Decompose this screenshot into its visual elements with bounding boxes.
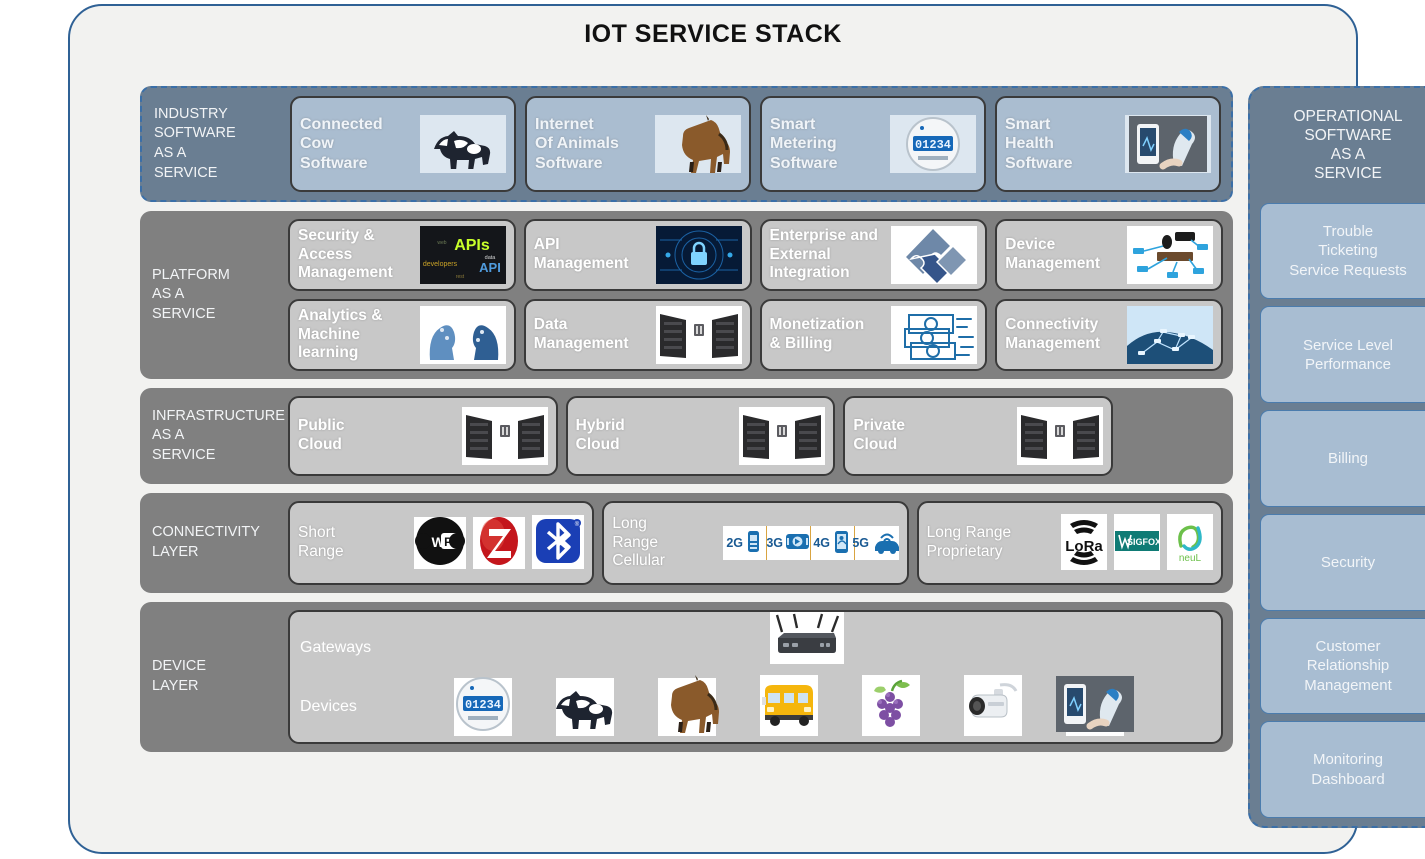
card-enterprise-and[interactable]: Enterprise andExternal Integration xyxy=(760,219,988,291)
operational-item-label: CustomerRelationshipManagement xyxy=(1304,637,1392,695)
card-api[interactable]: APIManagement xyxy=(524,219,752,291)
card-label: PrivateCloud xyxy=(853,417,905,455)
server-rack-icon xyxy=(1017,407,1103,465)
card-internet[interactable]: InternetOf AnimalsSoftware xyxy=(525,96,751,192)
cloud-network-icon xyxy=(1127,306,1213,364)
card-art xyxy=(420,306,506,364)
media-phone-icon xyxy=(785,530,810,556)
card-monetization[interactable]: Monetization& Billing xyxy=(760,299,988,371)
layer-label-device: DEVICELAYER xyxy=(140,657,288,696)
conn-group-long-range[interactable]: Long RangeProprietaryLoRaSIGFOXneuL xyxy=(917,501,1223,585)
server-rack-icon xyxy=(462,407,548,465)
conn-group-short[interactable]: ShortRangeWiFi® xyxy=(288,501,594,585)
card-smart[interactable]: SmartHealthSoftware xyxy=(995,96,1221,192)
card-label: APIManagement xyxy=(534,236,629,274)
ai-heads-icon xyxy=(420,306,506,364)
horse-icon xyxy=(659,115,737,173)
layer-connectivity: CONNECTIVITYLAYERShortRangeWiFi®LongRang… xyxy=(140,493,1233,593)
svg-text:APIs: APIs xyxy=(454,237,490,254)
card-connectivity[interactable]: ConnectivityManagement xyxy=(995,299,1223,371)
layer-industry: INDUSTRYSOFTWAREAS ASERVICEConnectedCowS… xyxy=(140,86,1233,202)
card-label: Analytics &Machine learning xyxy=(298,307,420,364)
device-network-icon xyxy=(1127,226,1213,284)
card-security-access[interactable]: Security & AccessManagementAPIsAPIdevelo… xyxy=(288,219,516,291)
card-art xyxy=(1125,115,1211,173)
card-hybrid[interactable]: HybridCloud xyxy=(566,396,836,476)
page-title: IOT SERVICE STACK xyxy=(70,20,1356,49)
card-public[interactable]: PublicCloud xyxy=(288,396,558,476)
card-art xyxy=(891,306,977,364)
layer-device: DEVICELAYERGatewaysDevices01234 xyxy=(140,602,1233,752)
svg-text:LoRa: LoRa xyxy=(1065,538,1103,555)
grapes-icon xyxy=(862,675,920,738)
svg-text:01234: 01234 xyxy=(465,698,501,712)
layer-infrastructure: INFRASTRUCTUREAS ASERVICEPublicCloudHybr… xyxy=(140,388,1233,484)
wifi-logo: WiFi xyxy=(414,515,466,572)
card-label: HybridCloud xyxy=(576,417,625,455)
card-label: ConnectivityManagement xyxy=(1005,316,1100,354)
cow-icon xyxy=(546,679,624,734)
svg-text:®: ® xyxy=(575,521,580,528)
logo-row: WiFi® xyxy=(414,517,584,569)
operational-item-label: Billing xyxy=(1328,449,1368,468)
card-row: ConnectedCowSoftwareInternetOf AnimalsSo… xyxy=(290,96,1221,192)
lora-logo: LoRa xyxy=(1061,514,1107,573)
layer-label-industry: INDUSTRYSOFTWAREAS ASERVICE xyxy=(142,105,290,183)
card-private[interactable]: PrivateCloud xyxy=(843,396,1113,476)
card-label: DeviceManagement xyxy=(1005,236,1100,274)
conn-group-long[interactable]: LongRangeCellular2G3G4G5G xyxy=(602,501,908,585)
neul-logo: neuL xyxy=(1167,514,1213,573)
operational-item-label: Service LevelPerformance xyxy=(1303,336,1393,374)
smart-meter-icon: 01234 xyxy=(444,675,522,738)
gateways-label: Gateways xyxy=(300,639,418,657)
svg-text:neuL: neuL xyxy=(1179,553,1202,564)
card-art: 01234 xyxy=(890,115,976,173)
stack-column: INDUSTRYSOFTWAREAS ASERVICEConnectedCowS… xyxy=(140,86,1233,761)
operational-item-label: TroubleTicketingService Requests xyxy=(1289,222,1407,280)
card-art xyxy=(1017,407,1103,465)
card-art xyxy=(656,226,742,284)
layer-label-infrastructure: INFRASTRUCTUREAS ASERVICE xyxy=(140,407,288,466)
svg-text:data: data xyxy=(484,255,496,261)
card-art xyxy=(891,226,977,284)
sigfox-logo: SIGFOX xyxy=(1114,514,1160,573)
card-row: Security & AccessManagementAPIsAPIdevelo… xyxy=(288,219,1223,291)
svg-text:01234: 01234 xyxy=(915,138,951,152)
cellular-4g: 4G xyxy=(811,526,855,560)
diagram-frame: IOT SERVICE STACK INDUSTRYSOFTWAREAS ASE… xyxy=(68,4,1358,854)
card-label: Security & AccessManagement xyxy=(298,227,420,284)
horse-icon xyxy=(648,674,726,739)
card-art: APIsAPIdeveloperswebdatarest xyxy=(420,226,506,284)
card-label: InternetOf AnimalsSoftware xyxy=(535,115,619,174)
card-label: ConnectedCowSoftware xyxy=(300,115,383,174)
cellular-strip: 2G3G4G5G xyxy=(723,526,899,560)
card-label: Monetization& Billing xyxy=(770,316,865,354)
gateway-slot xyxy=(770,614,844,664)
card-label: SmartMeteringSoftware xyxy=(770,115,838,174)
operational-item-label: MonitoringDashboard xyxy=(1311,750,1384,788)
svg-text:API: API xyxy=(479,260,501,275)
server-rack-icon xyxy=(656,306,742,364)
layer-platform: PLATFORMAS ASERVICESecurity & AccessMana… xyxy=(140,211,1233,379)
devices-line: Devices01234 xyxy=(300,677,1211,736)
conn-group-label: LongRangeCellular xyxy=(612,515,665,572)
card-art xyxy=(655,115,741,173)
conn-group-label: Long RangeProprietary xyxy=(927,524,1011,562)
health-device-icon xyxy=(1129,116,1207,172)
card-connected[interactable]: ConnectedCowSoftware xyxy=(290,96,516,192)
operational-item-security[interactable]: Security xyxy=(1260,514,1425,611)
operational-item-customer[interactable]: CustomerRelationshipManagement xyxy=(1260,618,1425,715)
smartphone-icon xyxy=(832,530,851,557)
layer-label-platform: PLATFORMAS ASERVICE xyxy=(140,266,288,325)
feature-phone-icon xyxy=(745,530,762,556)
gateway-router-icon xyxy=(770,612,844,667)
puzzle-icon xyxy=(891,226,977,284)
gateways-line: Gateways xyxy=(300,618,1211,677)
card-data[interactable]: DataManagement xyxy=(524,299,752,371)
card-art xyxy=(1127,226,1213,284)
operational-item-trouble[interactable]: TroubleTicketingService Requests xyxy=(1260,203,1425,300)
cellular-3g: 3G xyxy=(767,526,811,560)
devices-label: Devices xyxy=(300,698,418,716)
operational-item-monitoring[interactable]: MonitoringDashboard xyxy=(1260,721,1425,818)
svg-text:rest: rest xyxy=(456,274,465,280)
connected-car-icon xyxy=(871,529,901,558)
card-art xyxy=(656,306,742,364)
smart-meter-icon: 01234 xyxy=(894,115,972,173)
operational-item-label: Security xyxy=(1321,553,1375,572)
logo-row: LoRaSIGFOXneuL xyxy=(1061,516,1213,570)
card-label: Enterprise andExternal Integration xyxy=(770,227,892,284)
cellular-2g: 2G xyxy=(723,526,767,560)
device-layer-card[interactable]: GatewaysDevices01234 xyxy=(288,610,1223,744)
operational-software-title: OPERATIONALSOFTWAREAS ASERVICE xyxy=(1260,94,1425,196)
card-art xyxy=(739,407,825,465)
card-label: PublicCloud xyxy=(298,417,345,455)
cow-icon xyxy=(424,119,502,169)
conn-group-label: ShortRange xyxy=(298,524,344,562)
connectivity-groups: ShortRangeWiFi®LongRangeCellular2G3G4G5G… xyxy=(288,501,1223,585)
health-device-icon xyxy=(1056,676,1134,737)
card-art xyxy=(462,407,548,465)
card-label: SmartHealthSoftware xyxy=(1005,115,1073,174)
card-smart[interactable]: SmartMeteringSoftware01234 xyxy=(760,96,986,192)
card-analytics-[interactable]: Analytics &Machine learning xyxy=(288,299,516,371)
svg-text:web: web xyxy=(437,240,446,246)
card-device[interactable]: DeviceManagement xyxy=(995,219,1223,291)
card-art xyxy=(1127,306,1213,364)
card-art xyxy=(420,115,506,173)
card-row: PublicCloudHybridCloudPrivateCloud xyxy=(288,396,1113,476)
zigbee-logo xyxy=(473,515,525,572)
layer-label-connectivity: CONNECTIVITYLAYER xyxy=(140,523,288,562)
cellular-5g: 5G xyxy=(855,526,899,560)
operational-software-column: OPERATIONALSOFTWAREAS ASERVICE TroubleTi… xyxy=(1248,86,1425,828)
operational-item-service-level[interactable]: Service LevelPerformance xyxy=(1260,306,1425,403)
device-icons: 01234 xyxy=(418,678,1124,736)
money-icon xyxy=(891,306,977,364)
bluetooth-logo: ® xyxy=(532,515,584,572)
school-bus-icon xyxy=(760,675,818,738)
card-row: Analytics &Machine learningDataManagemen… xyxy=(288,299,1223,371)
api-lock-icon xyxy=(656,226,742,284)
server-rack-icon xyxy=(739,407,825,465)
operational-item-billing[interactable]: Billing xyxy=(1260,410,1425,507)
svg-text:SIGFOX: SIGFOX xyxy=(1127,537,1160,547)
security-camera-icon xyxy=(964,675,1022,738)
svg-text:developers: developers xyxy=(423,261,458,268)
card-label: DataManagement xyxy=(534,316,629,354)
apis-wordcloud-icon: APIsAPIdeveloperswebdatarest xyxy=(420,226,506,284)
